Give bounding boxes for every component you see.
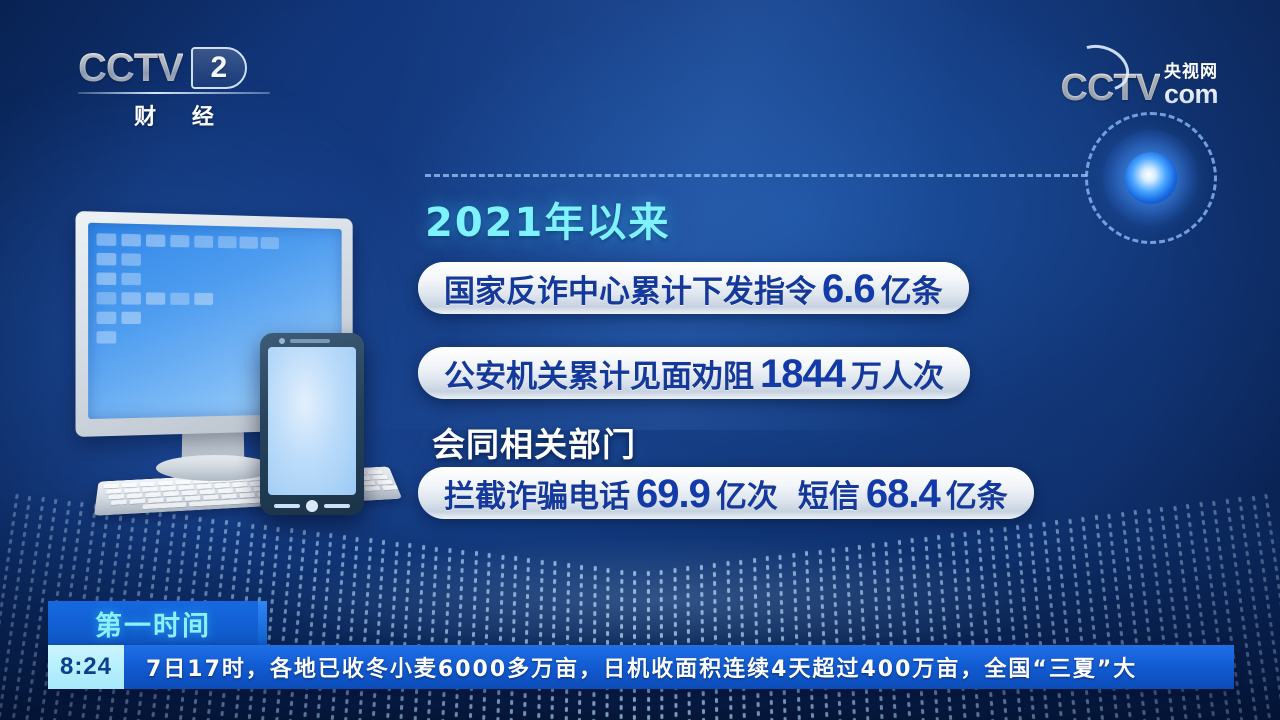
graphic-sub-lead: 会同相关部门 xyxy=(432,418,636,466)
cctv-wordmark: CCTV xyxy=(78,46,183,90)
cctv-com-watermark: CCTV 央视网 com xyxy=(1061,46,1218,108)
program-name-label: 第一时间 xyxy=(95,604,211,643)
stat-value: 1844 xyxy=(760,352,845,397)
stat-unit: 亿条 xyxy=(881,266,943,311)
stat-bar-dispatch-orders: 国家反诈中心累计下发指令 6.6 亿条 xyxy=(418,262,969,314)
stat-label: 国家反诈中心累计下发指令 xyxy=(444,266,816,311)
glowing-orb-graphic xyxy=(1085,112,1217,244)
stat-unit-calls: 亿次 xyxy=(716,471,778,516)
phone-menu-key xyxy=(324,504,350,508)
dashed-leader-line xyxy=(425,174,1087,177)
news-ticker-bar: 8:24 7日17时，各地已收冬小麦6000多万亩，日机收面积连续4天超过400… xyxy=(48,645,1234,689)
cctv-com-domain: com xyxy=(1164,81,1218,108)
orb-core-light xyxy=(1125,152,1177,204)
channel-subtitle: 财 经 xyxy=(78,99,270,131)
smartphone-graphic xyxy=(260,333,364,515)
stat-value-calls: 69.9 xyxy=(636,472,710,517)
monitor-base xyxy=(156,455,274,481)
broadcast-frame: CCTV 2 财 经 CCTV 央视网 com xyxy=(0,0,1280,720)
cctv2-channel-logo: CCTV 2 财 经 xyxy=(78,46,278,124)
stat-unit-sms: 亿条 xyxy=(946,471,1008,516)
stat-value-sms: 68.4 xyxy=(866,472,940,517)
ticker-headline: 7日17时，各地已收冬小麦6000多万亩，日机收面积连续4天超过400万亩，全国… xyxy=(146,651,1137,683)
phone-back-key xyxy=(274,504,300,508)
device-illustration xyxy=(70,205,430,535)
stat-label-sms: 短信 xyxy=(798,471,860,516)
phone-camera-icon xyxy=(279,338,285,344)
program-tab-accent xyxy=(258,601,267,645)
ticker-text-area: 7日17时，各地已收冬小麦6000多万亩，日机收面积连续4天超过400万亩，全国… xyxy=(124,645,1234,689)
stat-value: 6.6 xyxy=(822,267,875,312)
phone-screen xyxy=(268,347,356,495)
program-name-tab: 第一时间 xyxy=(48,601,258,645)
channel-number: 2 xyxy=(211,53,228,83)
clock-box: 8:24 xyxy=(48,645,124,689)
stat-label: 公安机关累计见面劝阻 xyxy=(444,351,754,396)
logo-underline xyxy=(78,92,270,94)
stat-unit: 万人次 xyxy=(851,351,944,396)
stat-bar-in-person-dissuasion: 公安机关累计见面劝阻 1844 万人次 xyxy=(418,347,970,399)
graphic-headline: 2021年以来 xyxy=(425,190,670,248)
clock-time: 8:24 xyxy=(60,653,112,681)
stat-bar-blocked-calls-sms: 拦截诈骗电话 69.9 亿次 短信 68.4 亿条 xyxy=(418,467,1034,519)
stat-label-calls: 拦截诈骗电话 xyxy=(444,471,630,516)
phone-home-button xyxy=(306,500,318,512)
phone-speaker xyxy=(290,339,330,343)
channel-number-badge: 2 xyxy=(191,47,247,89)
